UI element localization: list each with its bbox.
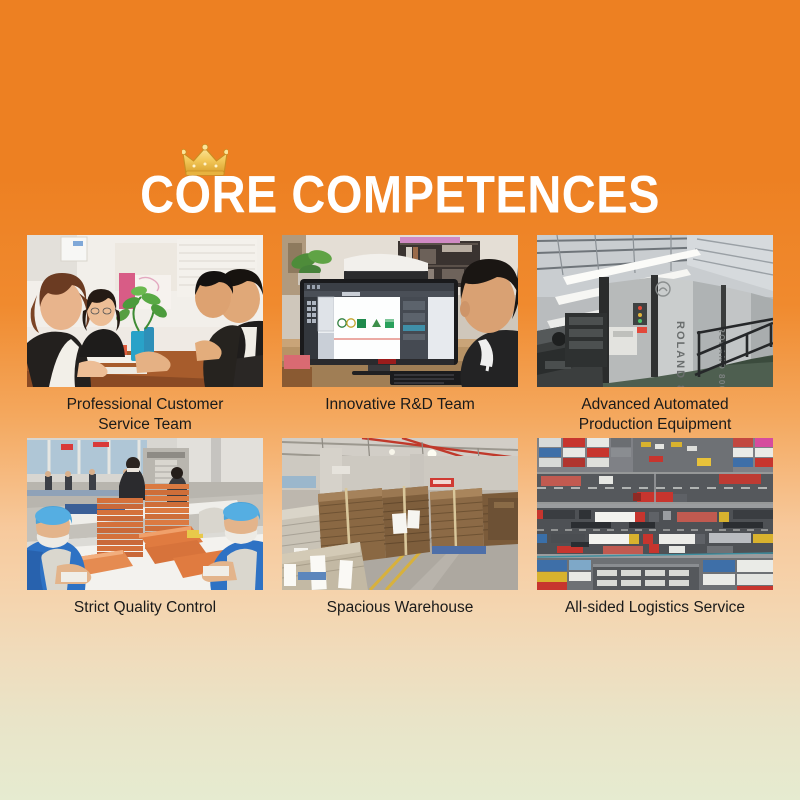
photo-rd-team[interactable] xyxy=(282,235,518,387)
page-header: CORE COMPETENCES xyxy=(0,150,800,213)
grid-item-production-equipment[interactable]: ROLAND 800 ROLAND 800 xyxy=(537,235,773,431)
grid-item-warehouse[interactable]: Spacious Warehouse xyxy=(282,438,518,620)
grid-item-rd-team[interactable]: Innovative R&D Team xyxy=(282,235,518,431)
photo-customer-service[interactable] xyxy=(27,235,263,387)
photo-warehouse[interactable] xyxy=(282,438,518,590)
caption-customer-service: Professional Customer Service Team xyxy=(27,387,263,431)
photo-logistics[interactable] xyxy=(537,438,773,590)
svg-text:ROLAND 800: ROLAND 800 xyxy=(717,327,726,387)
caption-quality-control: Strict Quality Control xyxy=(27,590,263,620)
machine-label: ROLAND 800 xyxy=(674,321,686,387)
grid-item-customer-service[interactable]: Professional Customer Service Team xyxy=(27,235,263,431)
caption-logistics: All-sided Logistics Service xyxy=(537,590,773,620)
caption-rd-team: Innovative R&D Team xyxy=(282,387,518,431)
core-competences-page: CORE COMPETENCES xyxy=(0,0,800,800)
grid-row: Professional Customer Service Team xyxy=(27,235,773,431)
caption-production-equipment: Advanced Automated Production Equipment xyxy=(537,387,773,431)
page-title: CORE COMPETENCES xyxy=(140,150,660,221)
grid-item-logistics[interactable]: All-sided Logistics Service xyxy=(537,438,773,620)
photo-quality-control[interactable] xyxy=(27,438,263,590)
grid-item-quality-control[interactable]: Strict Quality Control xyxy=(27,438,263,620)
caption-warehouse: Spacious Warehouse xyxy=(282,590,518,620)
competences-grid: Professional Customer Service Team xyxy=(27,235,773,620)
grid-row: Strict Quality Control xyxy=(27,438,773,620)
photo-production-equipment[interactable]: ROLAND 800 ROLAND 800 xyxy=(537,235,773,387)
